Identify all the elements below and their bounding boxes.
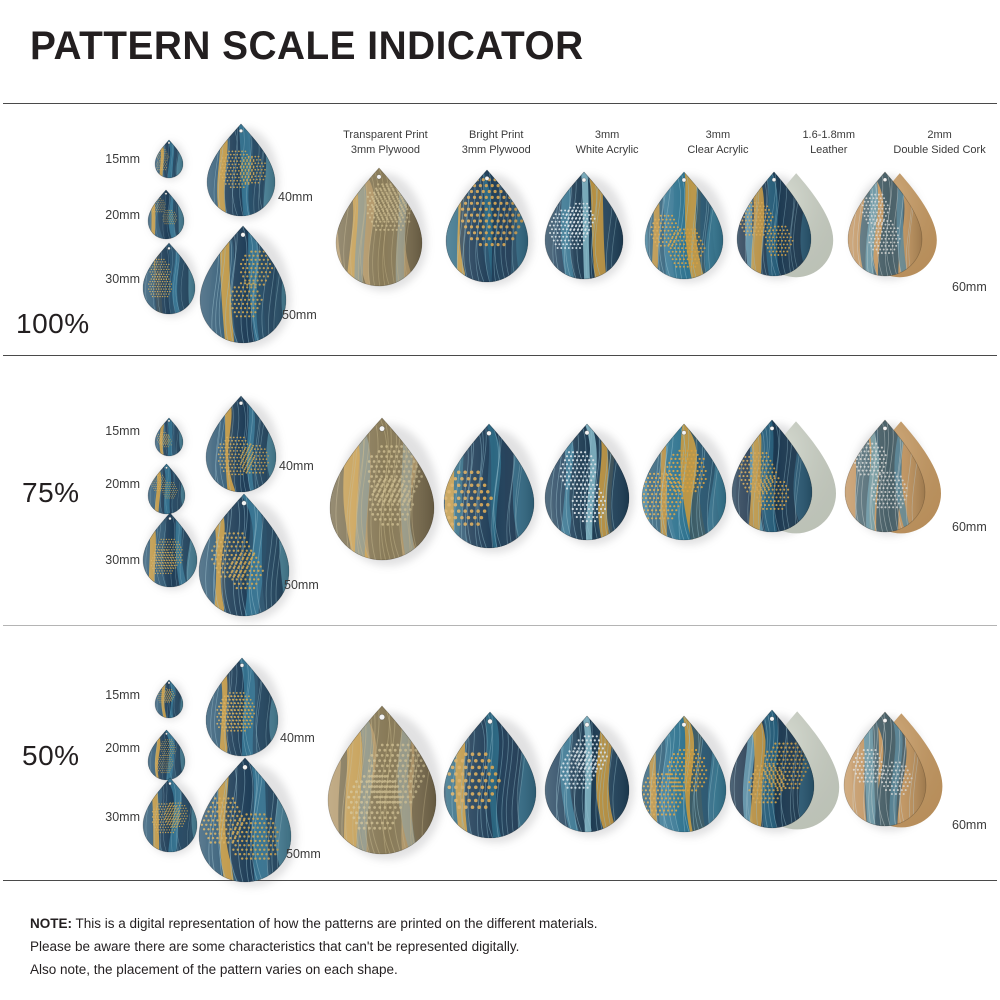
size-label-50mm: 50mm — [282, 308, 342, 322]
material-drop-plywood-transparent — [336, 168, 422, 288]
material-drop-white-acrylic — [545, 172, 623, 281]
material-drop-clear-acrylic — [645, 172, 723, 281]
size-label-60mm: 60mm — [952, 520, 1000, 534]
reference-drop-small — [143, 778, 197, 854]
material-drop-clear-acrylic — [642, 716, 726, 834]
reference-drop-large — [199, 758, 291, 884]
material-drop-cork — [848, 172, 944, 278]
note-line-2: Please be aware there are some character… — [30, 935, 598, 958]
size-label-20mm: 20mm — [58, 208, 140, 222]
reference-drop-small — [155, 680, 183, 720]
material-drop-leather — [737, 172, 833, 278]
size-label-15mm: 15mm — [58, 424, 140, 438]
size-label-60mm: 60mm — [952, 818, 1000, 832]
scale-row-100: 100% — [0, 104, 1000, 355]
reference-drop-small — [143, 513, 197, 589]
material-drop-white-acrylic — [545, 716, 629, 834]
reference-drop-small — [155, 418, 183, 458]
size-label-30mm: 30mm — [58, 272, 140, 286]
material-drop-white-acrylic — [545, 424, 629, 542]
note-text-1: This is a digital representation of how … — [72, 916, 598, 931]
size-label-50mm: 50mm — [284, 578, 344, 592]
size-label-20mm: 20mm — [58, 741, 140, 755]
material-drop-plywood-transparent — [328, 706, 436, 856]
material-drop-cork — [845, 420, 949, 534]
material-drop-leather — [730, 710, 839, 830]
note-label: NOTE: — [30, 916, 72, 931]
size-label-15mm: 15mm — [58, 688, 140, 702]
reference-drop-small — [148, 730, 185, 782]
reference-drop-large — [199, 494, 289, 618]
material-drop-plywood-bright — [444, 712, 536, 840]
reference-drop-small — [148, 190, 184, 241]
divider-note — [3, 880, 997, 881]
material-drop-plywood-bright — [444, 424, 534, 550]
reference-drop-large — [200, 226, 286, 345]
size-label-30mm: 30mm — [58, 553, 140, 567]
page-title: PATTERN SCALE INDICATOR — [30, 26, 584, 66]
note-line-1: NOTE: This is a digital representation o… — [30, 912, 598, 935]
reference-drop-large — [206, 396, 276, 494]
reference-drop-large — [206, 658, 278, 758]
size-label-60mm: 60mm — [952, 280, 1000, 294]
reference-drop-small — [148, 464, 185, 516]
size-label-40mm: 40mm — [278, 190, 338, 204]
size-label-30mm: 30mm — [58, 810, 140, 824]
material-drop-leather — [732, 420, 836, 534]
material-drop-plywood-bright — [446, 170, 528, 284]
reference-drop-large — [207, 124, 275, 218]
material-drop-plywood-transparent — [330, 418, 434, 562]
note-line-3: Also note, the placement of the pattern … — [30, 958, 598, 981]
scale-row-50: 50% — [0, 626, 1000, 880]
size-label-20mm: 20mm — [58, 477, 140, 491]
scale-percent-label: 100% — [16, 308, 90, 340]
material-drop-cork — [844, 712, 951, 828]
scale-row-75: 75% — [0, 356, 1000, 625]
size-label-15mm: 15mm — [58, 152, 140, 166]
reference-drop-small — [155, 140, 183, 180]
note-block: NOTE: This is a digital representation o… — [30, 912, 598, 982]
material-drop-clear-acrylic — [642, 424, 726, 542]
reference-drop-small — [143, 243, 195, 316]
